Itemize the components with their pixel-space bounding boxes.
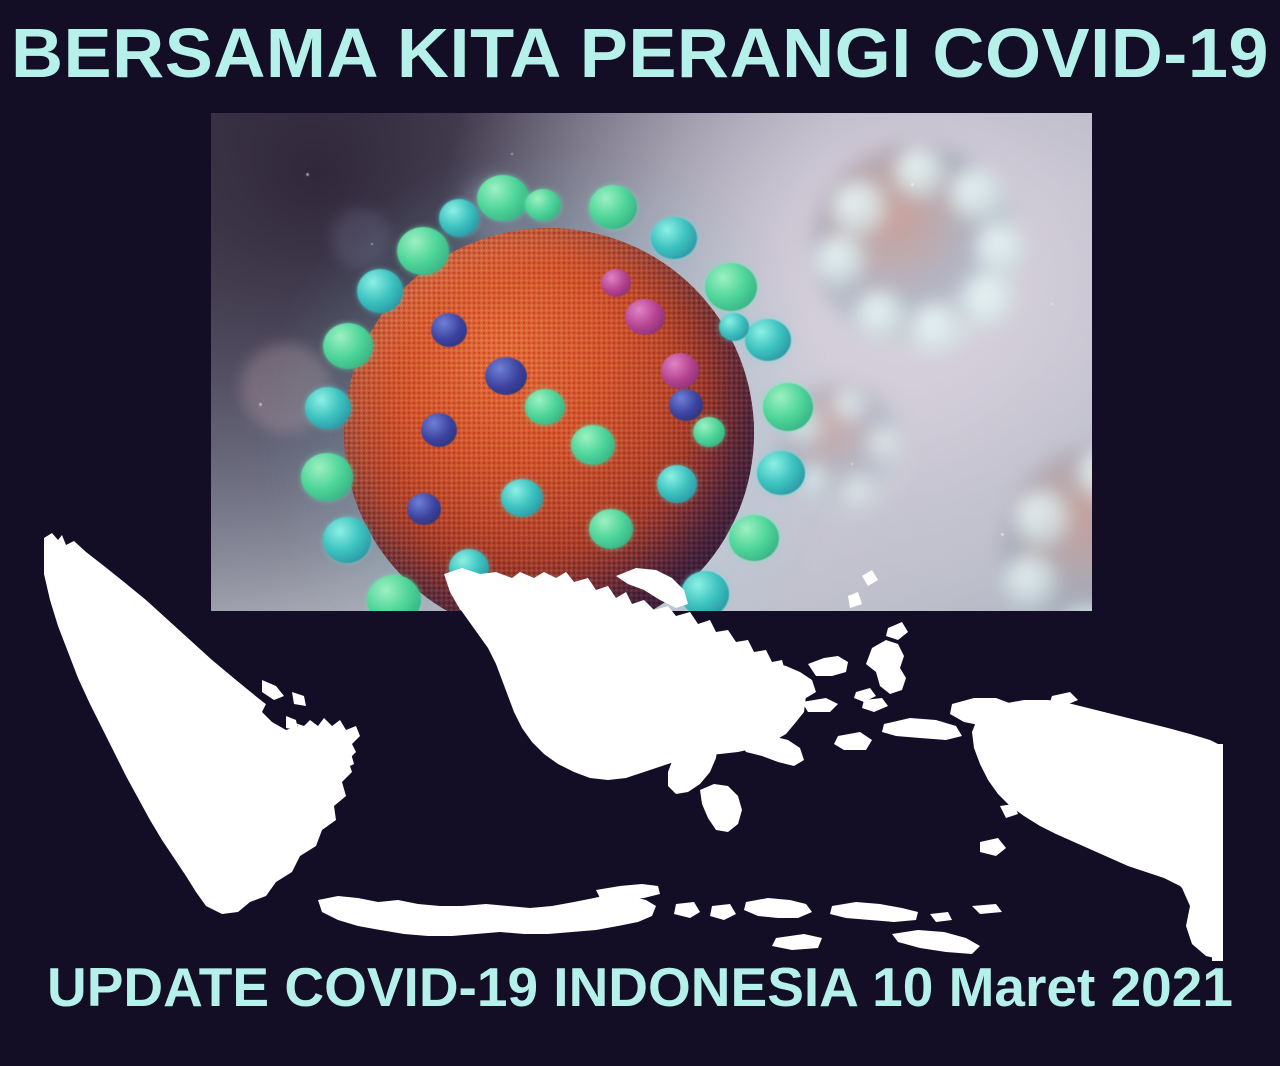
speck [911, 183, 914, 186]
island-bangka [292, 736, 320, 768]
island-mentawai-s [122, 706, 148, 744]
island-kai [1000, 804, 1018, 818]
island-papua-birdshead [950, 698, 1016, 726]
island-madura [596, 884, 660, 900]
coronavirus-photo [211, 113, 1092, 611]
papua-white-block [1142, 747, 1223, 960]
island-timor [892, 930, 980, 954]
island-bacan [854, 688, 876, 702]
page-title: BERSAMA KITA PERANGI COVID-19 [0, 18, 1280, 88]
island-sumbawa [744, 898, 812, 918]
island-lombok [710, 904, 736, 920]
island-papua [972, 700, 1222, 900]
island-buru [834, 732, 872, 750]
island-flores [830, 902, 918, 922]
island-enggano [174, 800, 192, 822]
speck [851, 463, 853, 465]
island-jawa [318, 894, 656, 936]
island-morotai [886, 622, 908, 640]
island-sulawesi [668, 656, 816, 794]
island-nias [58, 596, 84, 630]
island-papua-east-edge [1212, 744, 1223, 962]
speck [259, 403, 262, 406]
poster-canvas: BERSAMA KITA PERANGI COVID-19 [0, 0, 1280, 1066]
island-sumba [772, 934, 822, 950]
island-lingga [286, 716, 298, 730]
island-mentawai-n [100, 660, 126, 694]
island-sulawesi-south-arm [700, 784, 742, 832]
island-sulawesi-ne-arm [808, 656, 848, 676]
island-belitung [330, 744, 354, 770]
island-wetar [972, 904, 1002, 914]
background-virion-1 [811, 143, 1021, 353]
island-riau-cluster [262, 680, 284, 700]
speck [371, 243, 373, 245]
speck [1001, 533, 1004, 536]
island-batam [292, 692, 306, 706]
island-biak [1050, 692, 1078, 706]
island-bali [674, 902, 700, 918]
island-yapen [1080, 712, 1116, 726]
island-obi [862, 698, 888, 712]
island-alor [930, 912, 952, 922]
island-tanimbar [980, 838, 1006, 856]
footer-title: UPDATE COVID-19 INDONESIA 10 Maret 2021 [0, 960, 1280, 1015]
speck [1051, 303, 1053, 305]
island-halmahera [866, 640, 906, 694]
speck [511, 153, 513, 155]
island-sula [802, 698, 838, 712]
main-virion [289, 173, 809, 611]
island-sumatra-east-bay [262, 704, 298, 730]
island-sulawesi-se-arm [740, 736, 804, 766]
speck [306, 173, 309, 176]
island-aru [1012, 786, 1040, 812]
island-seram [882, 718, 962, 740]
